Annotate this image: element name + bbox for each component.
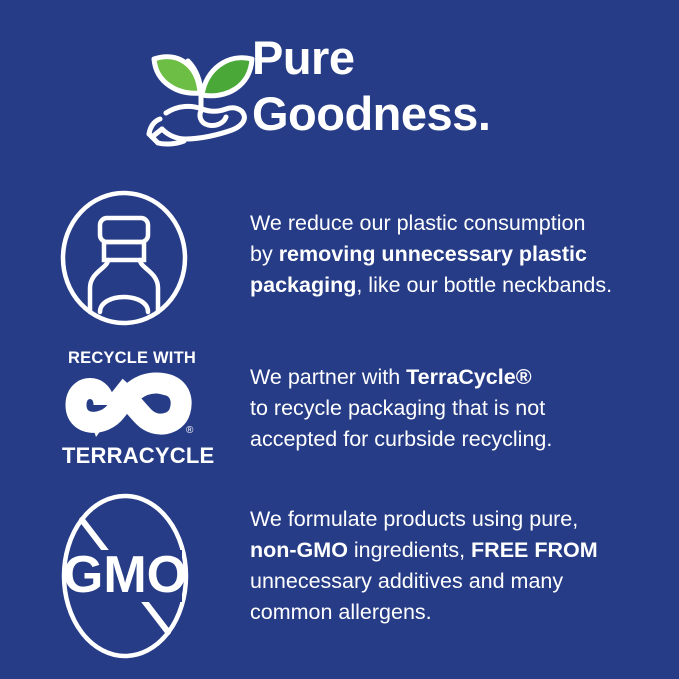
- page-title: Pure Goodness.: [252, 30, 672, 142]
- no-gmo-circle-icon: GMO: [60, 492, 195, 664]
- text-line: We formulate products using pure,: [250, 504, 670, 535]
- terracycle-top-label: RECYCLE WITH: [68, 349, 196, 368]
- infographic-page: Pure Goodness. We reduce our plastic con…: [0, 0, 679, 679]
- feature-text-plastic: We reduce our plastic consumption by rem…: [250, 208, 670, 301]
- gmo-label: GMO: [63, 546, 187, 604]
- terracycle-infinity-arrows-icon: ®: [60, 367, 200, 443]
- bottle-neckband-circle-icon: [60, 190, 195, 330]
- text-line: We reduce our plastic consumption: [250, 208, 670, 239]
- text-line: to recycle packaging that is not: [250, 393, 670, 424]
- text-line: accepted for curbside recycling.: [250, 424, 670, 455]
- feature-row-gmo: GMO We formulate products using pure, no…: [0, 492, 679, 672]
- feature-row-plastic: We reduce our plastic consumption by rem…: [0, 190, 679, 340]
- feature-text-terracycle: We partner with TerraCycle® to recycle p…: [250, 362, 670, 455]
- text-line: non-GMO ingredients, FREE FROM: [250, 535, 670, 566]
- hand-holding-sprout-icon: [148, 33, 258, 148]
- text-line: by removing unnecessary plastic: [250, 239, 670, 270]
- registered-mark: ®: [186, 425, 194, 436]
- terracycle-wordmark: TERRACYCLE: [62, 443, 202, 469]
- feature-row-terracycle: RECYCLE WITH ® TERRACYCLE We partner wit…: [0, 345, 679, 485]
- text-line: common allergens.: [250, 597, 670, 628]
- text-line: packaging, like our bottle neckbands.: [250, 270, 670, 301]
- text-line: We partner with TerraCycle®: [250, 362, 670, 393]
- text-line: unnecessary additives and many: [250, 566, 670, 597]
- page-title-line-1: Pure: [252, 30, 672, 86]
- page-title-line-2: Goodness.: [252, 86, 672, 142]
- header: Pure Goodness.: [0, 0, 679, 178]
- feature-text-gmo: We formulate products using pure, non-GM…: [250, 504, 670, 628]
